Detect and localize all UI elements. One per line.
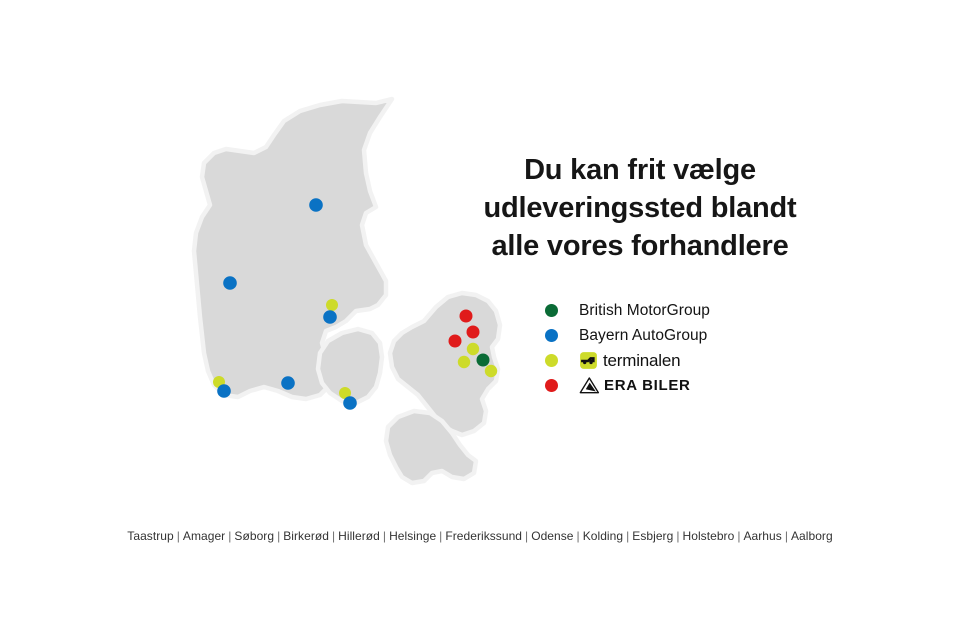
map-marker-amager[interactable] bbox=[485, 365, 497, 377]
map-marker-holstebro[interactable] bbox=[223, 276, 237, 290]
headline: Du kan frit vælge udleveringssted blandt… bbox=[455, 152, 825, 266]
map-marker-aarhus-term[interactable] bbox=[326, 299, 338, 311]
city-taastrup: Taastrup bbox=[125, 529, 175, 543]
map-marker-soborg[interactable] bbox=[477, 354, 490, 367]
map-marker-birkerod[interactable] bbox=[467, 343, 479, 355]
map-marker-taastrup[interactable] bbox=[458, 356, 470, 368]
city-amager: Amager bbox=[181, 529, 227, 543]
city-aalborg: Aalborg bbox=[789, 529, 835, 543]
city-frederikssund: Frederikssund bbox=[443, 529, 524, 543]
poster-canvas: Du kan frit vælge udleveringssted blandt… bbox=[0, 0, 960, 640]
city-birkerod: Birkerød bbox=[281, 529, 331, 543]
legend-item-bayern-autogroup[interactable]: Bayern AutoGroup bbox=[545, 323, 825, 348]
city-strip: Taastrup|Amager|Søborg|Birkerød|Hillerød… bbox=[0, 529, 960, 543]
city-holstebro: Holstebro bbox=[681, 529, 737, 543]
legend-label-british-motorgroup: British MotorGroup bbox=[579, 302, 710, 320]
city-soborg: Søborg bbox=[232, 529, 276, 543]
map-marker-helsinge[interactable] bbox=[460, 310, 473, 323]
legend-label-bayern-autogroup: Bayern AutoGroup bbox=[579, 327, 707, 345]
city-aarhus: Aarhus bbox=[741, 529, 783, 543]
city-kolding: Kolding bbox=[581, 529, 625, 543]
map-marker-odense-bayern[interactable] bbox=[343, 396, 357, 410]
headline-line-2: udleveringssted blandt bbox=[455, 190, 825, 228]
legend-item-terminalen[interactable]: terminalen bbox=[545, 348, 825, 373]
city-esbjerg: Esbjerg bbox=[630, 529, 675, 543]
city-odense: Odense bbox=[529, 529, 575, 543]
map-marker-aarhus-bayern[interactable] bbox=[323, 310, 337, 324]
legend-label-era-biler: ERA BILER bbox=[604, 377, 691, 394]
headline-line-3: alle vores forhandlere bbox=[455, 228, 825, 266]
city-separator: | bbox=[576, 529, 581, 543]
map-marker-frederikssund[interactable] bbox=[449, 335, 462, 348]
legend-dot-icon-green bbox=[545, 304, 558, 317]
era-biler-logo: ERA BILER bbox=[579, 375, 691, 397]
legend-item-era-biler[interactable]: ERA BILER bbox=[545, 373, 825, 398]
map-marker-kolding[interactable] bbox=[281, 376, 295, 390]
legend-dot-icon-yellow bbox=[545, 354, 558, 367]
map-marker-esbjerg-bayern[interactable] bbox=[217, 384, 231, 398]
terminalen-car-icon bbox=[579, 351, 598, 370]
terminalen-logo: terminalen bbox=[579, 350, 680, 372]
legend-label-terminalen: terminalen bbox=[603, 351, 680, 371]
city-hillerod: Hillerød bbox=[336, 529, 382, 543]
legend-item-british-motorgroup[interactable]: British MotorGroup bbox=[545, 298, 825, 323]
map-marker-aalborg[interactable] bbox=[309, 198, 323, 212]
legend-dot-icon-blue bbox=[545, 329, 558, 342]
city-separator: | bbox=[675, 529, 680, 543]
brand-legend: British MotorGroup Bayern AutoGroup term… bbox=[545, 298, 825, 398]
legend-dot-icon-red bbox=[545, 379, 558, 392]
headline-line-1: Du kan frit vælge bbox=[455, 152, 825, 190]
city-helsinge: Helsinge bbox=[387, 529, 438, 543]
era-biler-triangle-icon bbox=[579, 377, 600, 394]
map-marker-hillerod[interactable] bbox=[467, 326, 480, 339]
